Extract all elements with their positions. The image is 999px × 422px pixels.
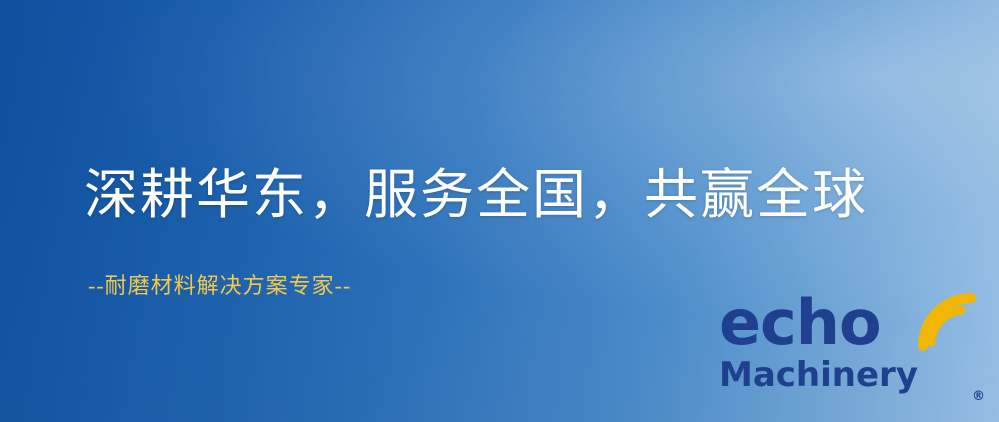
hero-banner: 深耕华东，服务全国，共赢全球 --耐磨材料解决方案专家-- echo Mac — [0, 0, 999, 422]
company-logo: echo Machinery ® — [719, 284, 987, 414]
page-subtitle: --耐磨材料解决方案专家-- — [88, 268, 351, 300]
logo-wordmark-secondary: Machinery — [719, 358, 918, 392]
page-title: 深耕华东，服务全国，共赢全球 — [84, 150, 868, 229]
registered-trademark-mark: ® — [972, 389, 985, 404]
logo-wordmark-primary: echo — [719, 292, 881, 354]
wifi-signal-arcs-icon — [901, 276, 985, 352]
